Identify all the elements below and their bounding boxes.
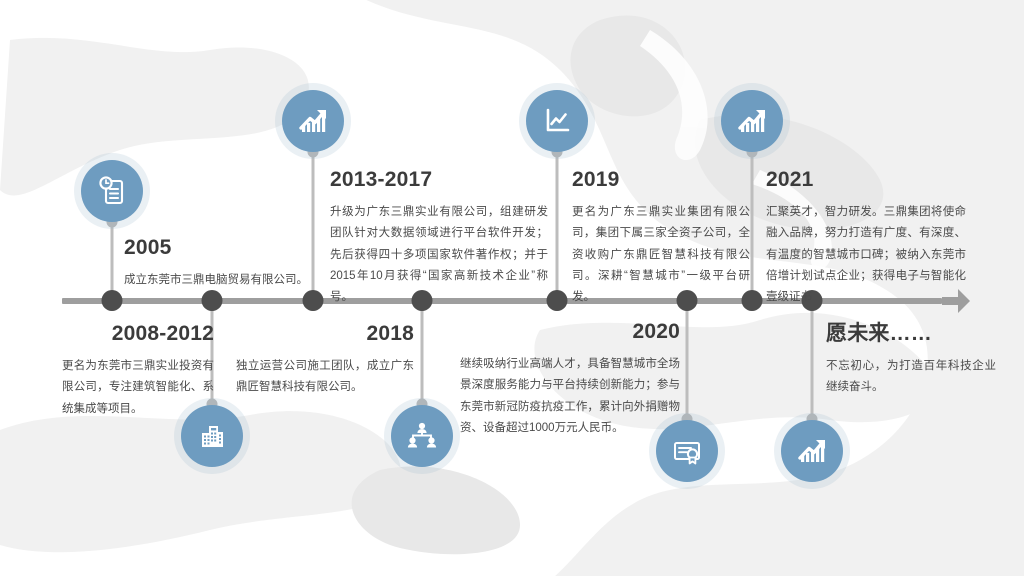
entry-year: 2018 (236, 322, 414, 345)
entry-year: 愿未来…… (826, 322, 996, 345)
entry-description: 继续吸纳行业高端人才，具备智慧城市全场景深度服务能力与平台持续创新能力；参与东莞… (460, 354, 680, 439)
icon-bubble-2005[interactable] (81, 160, 143, 222)
entry-description: 独立运营公司施工团队，成立广东鼎匠智慧科技有限公司。 (236, 356, 414, 399)
icon-bubble-2019[interactable] (526, 90, 588, 152)
entry-description: 不忘初心，为打造百年科技企业继续奋斗。 (826, 356, 996, 399)
entry-year: 2008-2012 (62, 322, 214, 345)
entry-2005: 2005 成立东莞市三鼎电脑贸易有限公司。 (124, 236, 314, 291)
growth-chart-arrow-icon (794, 433, 830, 469)
connector-stem-2005 (111, 222, 114, 300)
entry-year: 2005 (124, 236, 314, 259)
entry-description: 更名为东莞市三鼎实业投资有限公司，专注建筑智能化、系统集成等项目。 (62, 356, 214, 420)
icon-bubble-2021[interactable] (721, 90, 783, 152)
entry-2018: 2018 独立运营公司施工团队，成立广东鼎匠智慧科技有限公司。 (236, 322, 414, 399)
timeline-node-2005[interactable] (102, 290, 123, 311)
team-hierarchy-icon (405, 419, 439, 453)
entry-description: 成立东莞市三鼎电脑贸易有限公司。 (124, 270, 314, 291)
connector-stem-2021 (751, 152, 754, 300)
timeline-node-2013-2017[interactable] (303, 290, 324, 311)
icon-bubble-2018[interactable] (391, 405, 453, 467)
entry-2019: 2019 更名为广东三鼎实业集团有限公司，集团下属三家全资子公司，全资收购广东鼎… (572, 168, 750, 308)
icon-bubble-future[interactable] (781, 420, 843, 482)
entry-2008-2012: 2008-2012 更名为东莞市三鼎实业投资有限公司，专注建筑智能化、系统集成等… (62, 322, 214, 420)
office-building-icon (195, 419, 229, 453)
connector-stem-future (811, 304, 814, 419)
growth-chart-arrow-icon (295, 103, 331, 139)
timeline-node-2008-2012[interactable] (202, 290, 223, 311)
entry-year: 2021 (766, 168, 966, 191)
icon-bubble-2013-2017[interactable] (282, 90, 344, 152)
connector-stem-2019 (556, 152, 559, 300)
entry-2020: 2020 继续吸纳行业高端人才，具备智慧城市全场景深度服务能力与平台持续创新能力… (460, 320, 680, 439)
line-chart-icon (540, 104, 574, 138)
growth-chart-arrow-icon (734, 103, 770, 139)
entry-description: 汇聚英才，智力研发。三鼎集团将使命融入品牌，努力打造有广度、有深度、有温度的智慧… (766, 202, 966, 308)
document-clock-icon (95, 174, 129, 208)
entry-year: 2013-2017 (330, 168, 548, 191)
entry-2021: 2021 汇聚英才，智力研发。三鼎集团将使命融入品牌，努力打造有广度、有深度、有… (766, 168, 966, 308)
timeline-node-2019[interactable] (547, 290, 568, 311)
entry-year: 2020 (460, 320, 680, 343)
entry-description: 升级为广东三鼎实业有限公司，组建研发团队针对大数据领域进行平台软件开发；先后获得… (330, 202, 548, 308)
connector-stem-2018 (421, 304, 424, 404)
entry-description: 更名为广东三鼎实业集团有限公司，集团下属三家全资子公司，全资收购广东鼎匠智慧科技… (572, 202, 750, 308)
timeline-infographic: 2005 成立东莞市三鼎电脑贸易有限公司。 2008-2012 更名为东莞市三鼎… (0, 0, 1024, 576)
entry-2013-2017: 2013-2017 升级为广东三鼎实业有限公司，组建研发团队针对大数据领域进行平… (330, 168, 548, 308)
entry-future: 愿未来…… 不忘初心，为打造百年科技企业继续奋斗。 (826, 322, 996, 399)
connector-stem-2020 (686, 304, 689, 419)
entry-year: 2019 (572, 168, 750, 191)
